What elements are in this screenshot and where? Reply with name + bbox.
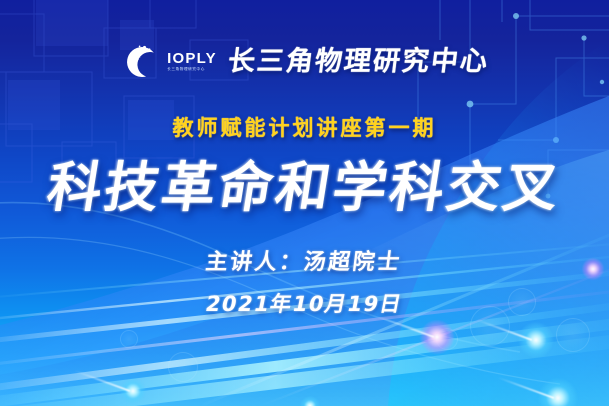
organization-name: 长三角物理研究中心 [226,48,490,75]
poster-content: IOPLY 长三角物理研究中心 长三角物理研究中心 教师赋能计划讲座第一期 科技… [0,0,609,406]
wordmark-text: IOPLY [167,51,217,66]
event-date: 2021年10月19日 [203,288,405,318]
brand-header: IOPLY 长三角物理研究中心 长三角物理研究中心 [120,42,489,80]
crescent-wave-emblem-icon [120,42,158,80]
page-title: 科技革命和学科交叉 [43,158,566,218]
wordmark: IOPLY 长三角物理研究中心 [167,51,217,72]
event-poster: IOPLY 长三角物理研究中心 长三角物理研究中心 教师赋能计划讲座第一期 科技… [0,0,609,406]
wordmark-subtext: 长三角物理研究中心 [167,68,205,72]
event-series-subtitle: 教师赋能计划讲座第一期 [173,112,437,142]
speaker-line: 主讲人：汤超院士 [205,244,405,276]
